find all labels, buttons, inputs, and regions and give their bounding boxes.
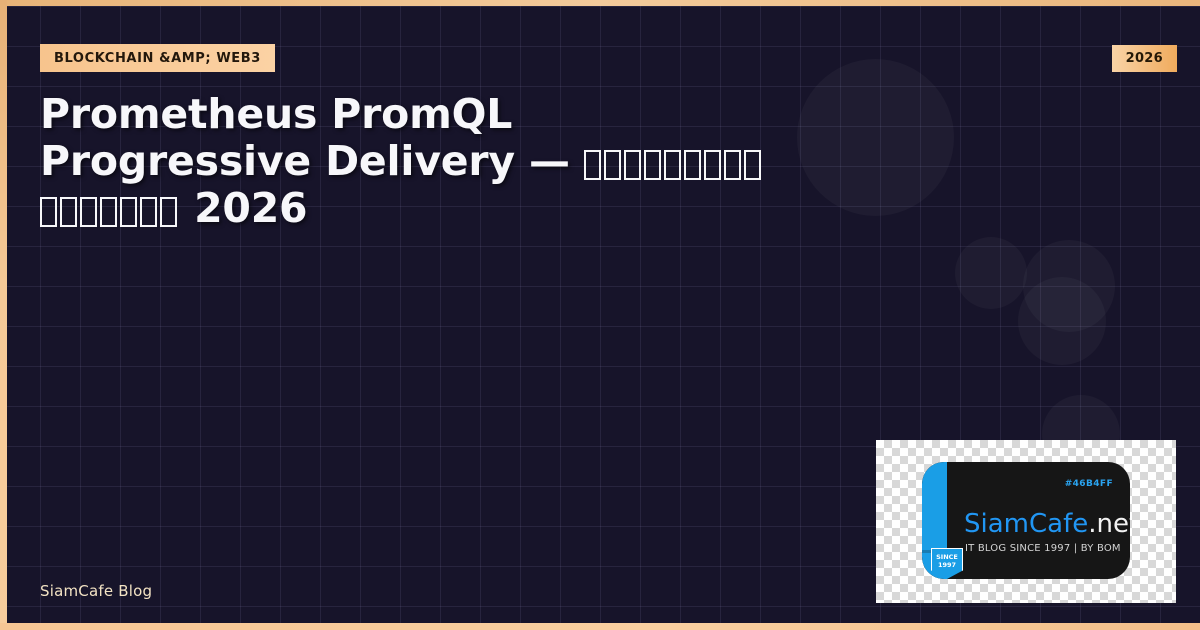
hex-code-label: #46B4FF <box>1065 479 1113 489</box>
missing-glyph-box <box>664 150 681 180</box>
missing-glyph-box <box>704 150 721 180</box>
missing-glyph-box <box>160 197 177 227</box>
category-badge: BLOCKCHAIN &AMP; WEB3 <box>40 44 275 72</box>
missing-glyph-box <box>120 197 137 227</box>
missing-glyph-box <box>584 150 601 180</box>
year-badge: 2026 <box>1112 45 1177 72</box>
brand-suffix: .net <box>1088 509 1130 539</box>
decorative-circle-large <box>797 59 954 216</box>
missing-glyph-box <box>724 150 741 180</box>
missing-glyph-box <box>100 197 117 227</box>
title-text-part-2: 2026 <box>180 184 307 232</box>
top-accent-bar <box>0 0 1200 6</box>
brand-tagline: IT BLOG SINCE 1997 | BY BOM <box>965 543 1121 554</box>
brand-wordmark: SiamCafe.net <box>964 510 1130 538</box>
logo-card: SINCE 1997 #46B4FF SiamCafe.net IT BLOG … <box>876 440 1176 603</box>
og-image-canvas: BLOCKCHAIN &AMP; WEB3 2026 Prometheus Pr… <box>0 0 1200 630</box>
decorative-circle-medium-overlap <box>1018 277 1106 365</box>
footer-site-name: SiamCafe Blog <box>40 582 152 600</box>
decorative-circle-medium <box>1023 240 1115 332</box>
title-text-part-1: Prometheus PromQL Progressive Delivery — <box>40 90 584 185</box>
decorative-circle-small <box>955 237 1027 309</box>
missing-glyph-box <box>624 150 641 180</box>
year-badge-label: 2026 <box>1126 51 1163 66</box>
bottom-accent-bar <box>0 623 1200 630</box>
category-badge-label: BLOCKCHAIN &AMP; WEB3 <box>54 51 261 66</box>
missing-glyph-box <box>644 150 661 180</box>
brand-primary: SiamCafe <box>964 509 1088 539</box>
missing-glyph-box <box>80 197 97 227</box>
logo-dark-panel: SINCE 1997 #46B4FF SiamCafe.net IT BLOG … <box>922 462 1130 579</box>
shield-line-1: SINCE <box>932 553 962 561</box>
missing-glyph-box <box>744 150 761 180</box>
missing-glyph-box <box>140 197 157 227</box>
missing-glyph-box <box>604 150 621 180</box>
missing-glyph-box <box>684 150 701 180</box>
left-accent-bar <box>0 0 7 630</box>
shield-line-2: 1997 <box>932 561 962 569</box>
missing-glyph-box <box>60 197 77 227</box>
page-title: Prometheus PromQL Progressive Delivery —… <box>40 91 770 232</box>
missing-glyph-box <box>40 197 57 227</box>
